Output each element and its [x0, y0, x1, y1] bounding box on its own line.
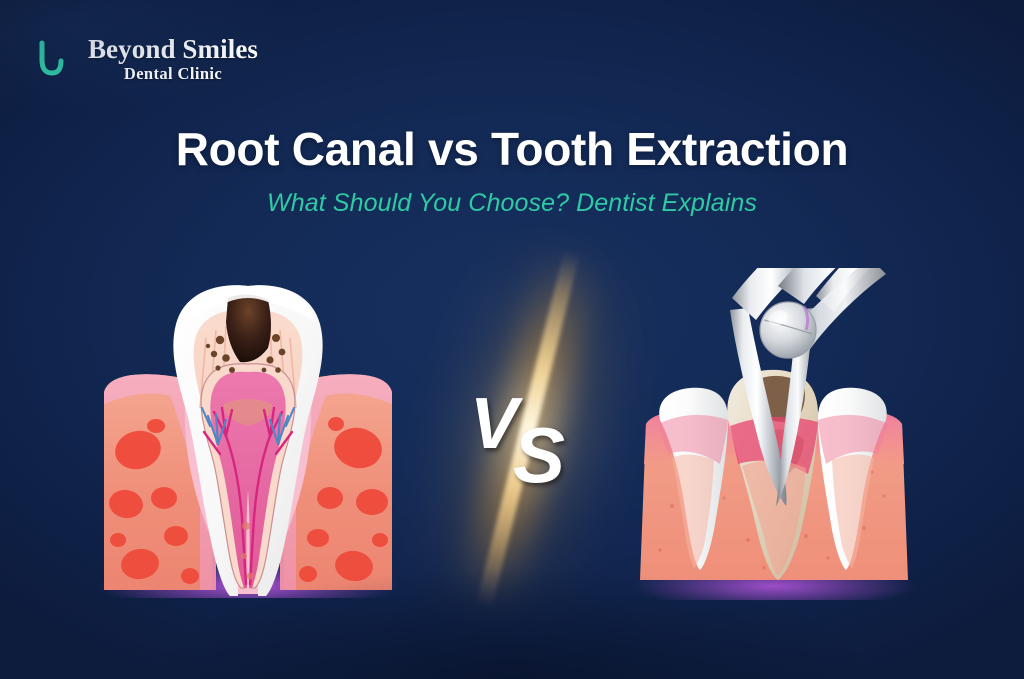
tooth-extraction-forceps-illustration [628, 268, 920, 600]
hero-banner: Beyond Smiles Dental Clinic Root Canal v… [0, 0, 1024, 679]
versus-badge: V S [448, 250, 608, 610]
versus-letter-s: S [513, 416, 565, 494]
page-title: Root Canal vs Tooth Extraction [0, 122, 1024, 176]
versus-letter-v: V [470, 388, 518, 460]
tooth-cross-section-decay-illustration [96, 268, 400, 598]
brand-tagline: Dental Clinic [60, 64, 286, 84]
page-subtitle: What Should You Choose? Dentist Explains [0, 188, 1024, 218]
brand-logo[interactable]: Beyond Smiles Dental Clinic [36, 34, 286, 96]
brand-name: Beyond Smiles [60, 34, 286, 64]
